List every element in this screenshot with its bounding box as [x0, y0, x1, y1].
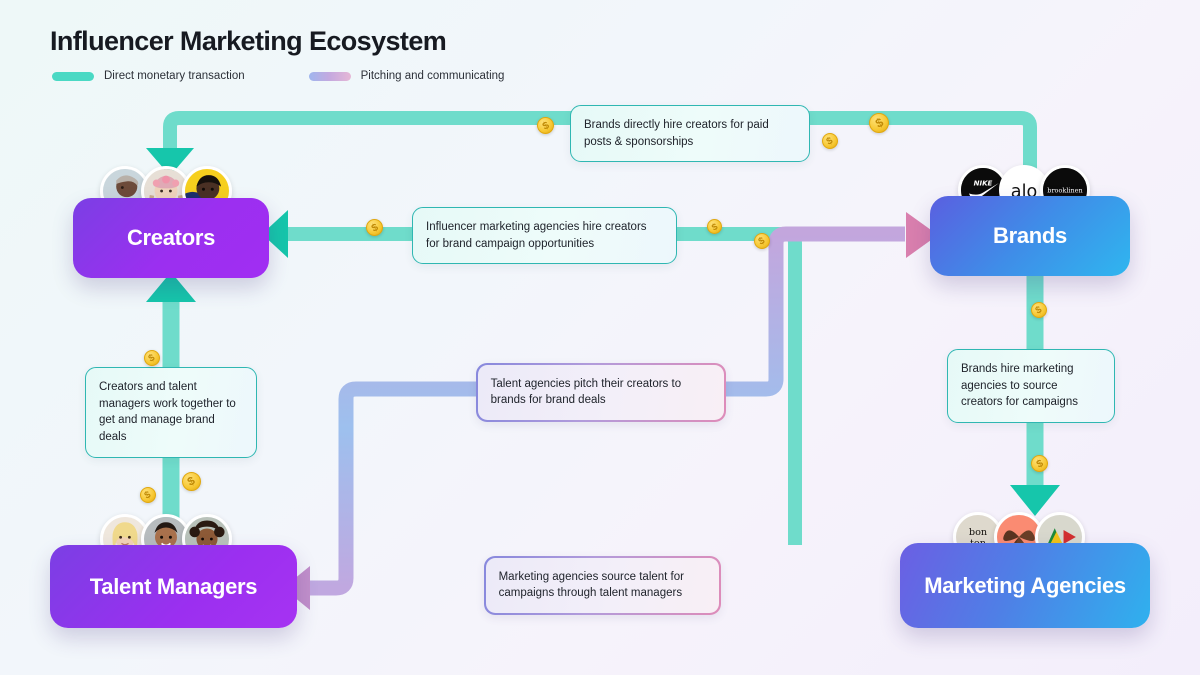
node-marketing-agencies-label: Marketing Agencies — [924, 573, 1126, 599]
node-marketing-agencies[interactable]: Marketing Agencies — [900, 543, 1150, 628]
money-coin-icon: $ — [366, 219, 383, 236]
money-coin-icon: $ — [869, 113, 889, 133]
money-coin-icon: $ — [140, 487, 156, 503]
node-creators[interactable]: Creators — [73, 198, 269, 278]
card-creators-talent-work: Creators and talent managers work togeth… — [85, 367, 257, 458]
money-coin-icon: $ — [822, 133, 838, 149]
card-talent-pitch-brands-text: Talent agencies pitch their creators to … — [478, 365, 725, 420]
svg-text:NIKE: NIKE — [974, 179, 993, 188]
svg-text:bon: bon — [969, 527, 987, 538]
money-coin-icon: $ — [1031, 302, 1047, 318]
money-coin-icon: $ — [754, 233, 770, 249]
card-agencies-hire-creators: Influencer marketing agencies hire creat… — [412, 207, 677, 264]
node-brands-label: Brands — [993, 223, 1067, 249]
svg-text:brooklinen: brooklinen — [1047, 187, 1082, 195]
money-coin-icon: $ — [144, 350, 160, 366]
card-talent-pitch-brands: Talent agencies pitch their creators to … — [476, 363, 726, 422]
money-coin-icon: $ — [1031, 455, 1048, 472]
money-coin-icon: $ — [182, 472, 201, 491]
card-brands-hire-creators: Brands directly hire creators for paid p… — [570, 105, 810, 162]
card-agencies-source-talent: Marketing agencies source talent for cam… — [484, 556, 721, 615]
node-talent-managers-label: Talent Managers — [90, 574, 257, 600]
money-coin-icon: $ — [537, 117, 554, 134]
node-brands[interactable]: Brands — [930, 196, 1130, 276]
money-coin-icon: $ — [707, 219, 722, 234]
card-brands-hire-agencies: Brands hire marketing agencies to source… — [947, 349, 1115, 423]
node-talent-managers[interactable]: Talent Managers — [50, 545, 297, 628]
diagram-canvas: Influencer Marketing Ecosystem Direct mo… — [0, 0, 1200, 675]
node-creators-label: Creators — [127, 225, 215, 251]
card-agencies-source-talent-text: Marketing agencies source talent for cam… — [486, 558, 720, 613]
